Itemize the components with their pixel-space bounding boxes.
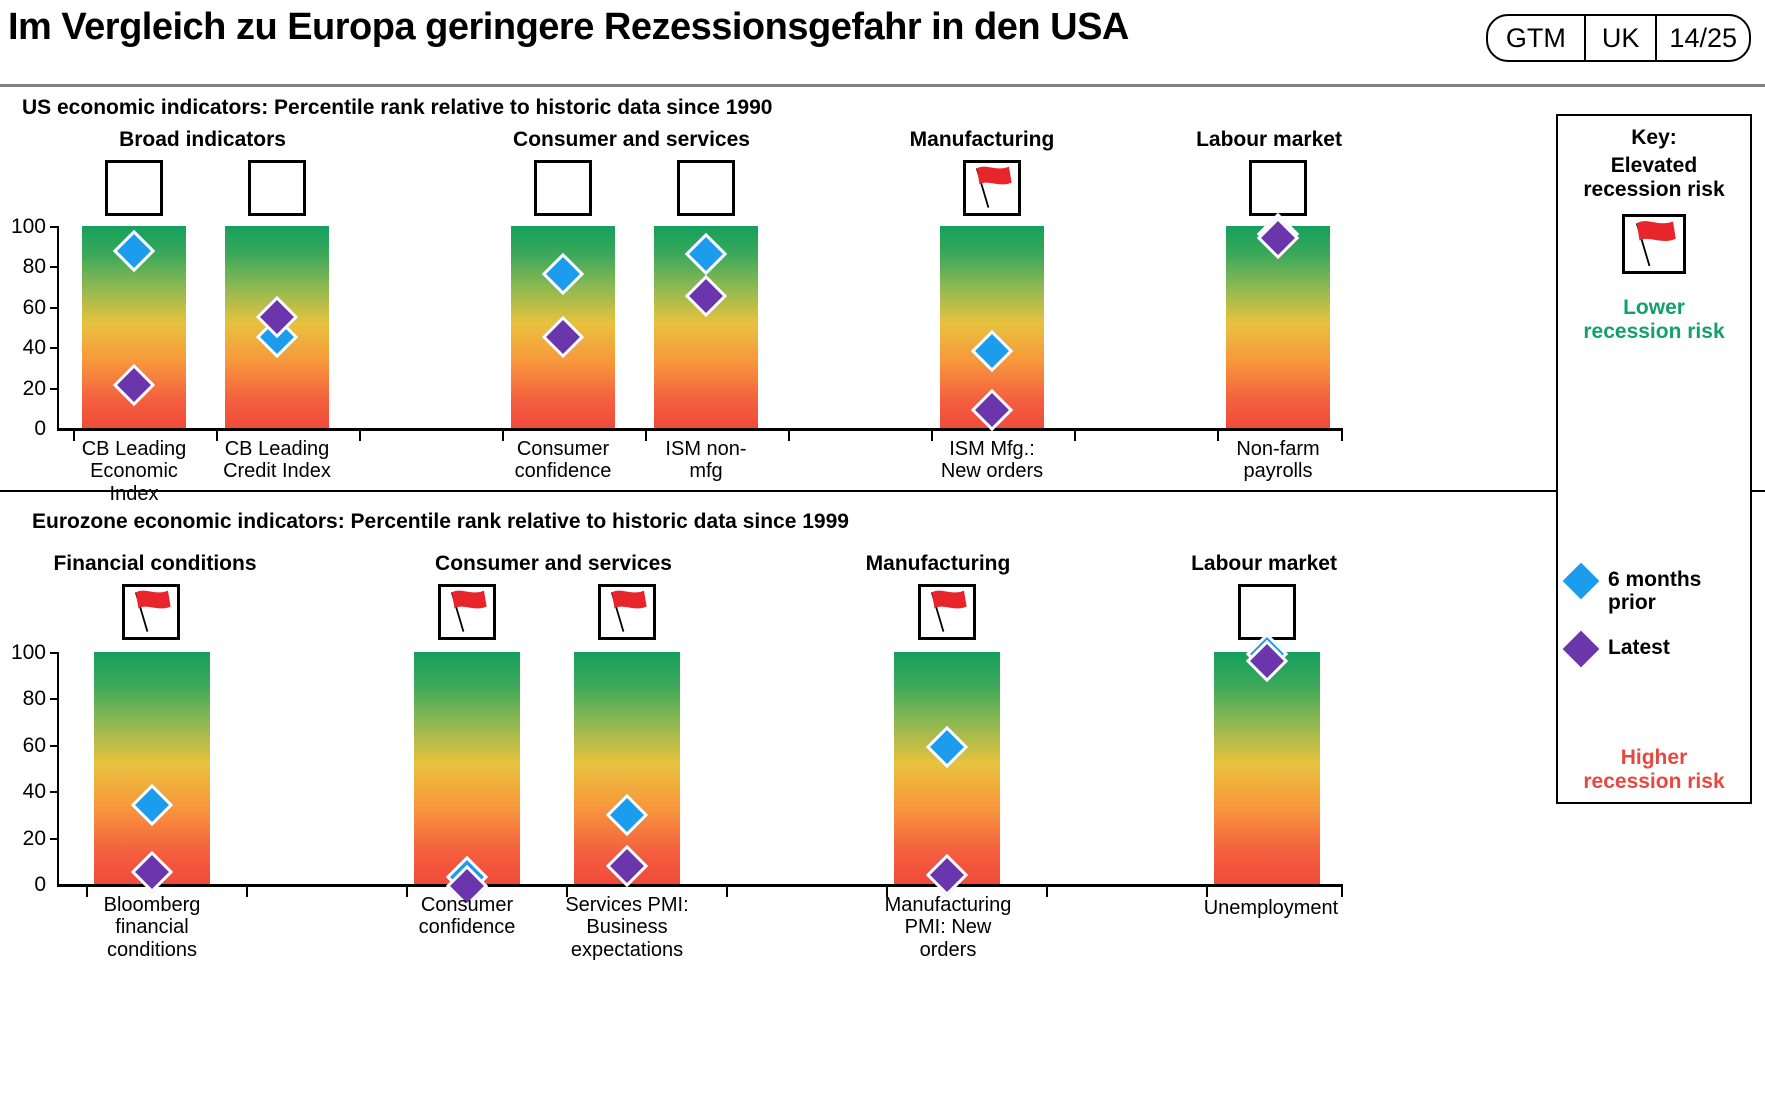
us-xlabel-ism-non-mfg: ISM non- mfg <box>636 438 776 483</box>
eu-xlabel-consumer-confidence: Consumer confidence <box>397 894 537 939</box>
panel-divider <box>0 490 1765 492</box>
eu-bar-bloomberg-financial-conditions <box>94 652 210 884</box>
us-risk-flag-box-cb-leading-credit-index <box>248 160 306 216</box>
eu-ytick-60: 60 <box>0 735 46 756</box>
slide-header: Im Vergleich zu Europa geringere Rezessi… <box>0 0 1765 78</box>
eu-xlabel-services-pmi-business-expectations: Services PMI: Business expectations <box>551 894 703 961</box>
page-title: Im Vergleich zu Europa geringere Rezessi… <box>8 6 1129 49</box>
eu-ytick-20: 20 <box>0 828 46 849</box>
key-higher-risk-label: Higher recession risk <box>1558 746 1750 793</box>
us-xlabel-ism-mfg-new-orders: ISM Mfg.: New orders <box>922 438 1062 483</box>
us-risk-flag-box-consumer-confidence <box>534 160 592 216</box>
eurozone-chart-title: Eurozone economic indicators: Percentile… <box>32 510 849 534</box>
eu-risk-flag-box-manufacturing-pmi-new-orders <box>918 584 976 640</box>
us-ytick-20: 20 <box>0 378 46 399</box>
eu-ytick-80: 80 <box>0 688 46 709</box>
red-flag-icon <box>441 587 493 637</box>
eu-y-axis <box>57 652 59 886</box>
key-flag-box <box>1622 214 1686 274</box>
key-lower-risk-label: Lower recession risk <box>1558 296 1750 343</box>
red-flag-icon <box>1625 217 1683 271</box>
badge-region-label: UK <box>1584 16 1656 60</box>
legend-item-latest: Latest <box>1568 636 1670 662</box>
us-xlabel-consumer-confidence: Consumer confidence <box>493 438 633 483</box>
slide-root: Im Vergleich zu Europa geringere Rezessi… <box>0 0 1765 1095</box>
gtm-badge: GTM UK 14/25 <box>1486 14 1751 62</box>
eu-risk-flag-box-consumer-confidence <box>438 584 496 640</box>
us-ytick-80: 80 <box>0 256 46 277</box>
us-y-axis <box>57 226 59 430</box>
us-ytick-40: 40 <box>0 337 46 358</box>
eu-ytick-0: 0 <box>0 874 46 895</box>
us-group-title-labour: Labour market <box>1150 128 1388 152</box>
eu-ytick-40: 40 <box>0 781 46 802</box>
us-risk-flag-box-ism-non-mfg <box>677 160 735 216</box>
eu-group-title-labour: Labour market <box>1144 552 1384 576</box>
eu-xlabel-unemployment: Unemployment <box>1186 897 1356 919</box>
us-risk-flag-box-cb-leading-economic-index <box>105 160 163 216</box>
legend-label-prior: 6 months prior <box>1608 568 1701 614</box>
us-ytick-60: 60 <box>0 297 46 318</box>
eu-risk-flag-box-unemployment <box>1238 584 1296 640</box>
us-risk-flag-box-ism-mfg-new-orders <box>963 160 1021 216</box>
red-flag-icon <box>921 587 973 637</box>
eu-risk-flag-box-services-pmi-business-expectations <box>598 584 656 640</box>
us-x-axis <box>57 428 1343 431</box>
red-flag-icon <box>125 587 177 637</box>
eu-x-axis <box>57 884 1343 887</box>
eu-group-title-manufacturing: Manufacturing <box>818 552 1058 576</box>
header-divider <box>0 84 1765 87</box>
eu-group-title-consumer: Consumer and services <box>400 552 707 576</box>
eu-group-title-financial: Financial conditions <box>20 552 290 576</box>
us-group-title-consumer: Consumer and services <box>478 128 785 152</box>
red-flag-icon <box>601 587 653 637</box>
us-chart-title: US economic indicators: Percentile rank … <box>22 96 772 120</box>
us-ytick-100: 100 <box>0 216 46 237</box>
eu-ytick-100: 100 <box>0 642 46 663</box>
badge-page-number: 14/25 <box>1655 16 1749 60</box>
key-elevated-risk-label: Elevated recession risk <box>1558 154 1750 201</box>
eu-xlabel-manufacturing-pmi-new-orders: Manufacturing PMI: New orders <box>875 894 1021 961</box>
us-xlabel-cb-leading-credit-index: CB Leading Credit Index <box>207 438 347 483</box>
us-group-title-manufacturing: Manufacturing <box>862 128 1102 152</box>
us-chart-panel: US economic indicators: Percentile rank … <box>0 88 1540 488</box>
badge-gtm-label: GTM <box>1488 16 1584 60</box>
legend-marker-latest-icon <box>1563 631 1600 668</box>
legend-item-6-months-prior: 6 months prior <box>1568 568 1701 614</box>
us-risk-flag-box-non-farm-payrolls <box>1249 160 1307 216</box>
legend-key-panel: Key: Elevated recession risk Lower reces… <box>1556 114 1752 804</box>
us-ytick-0: 0 <box>0 418 46 439</box>
key-title: Key: <box>1558 126 1750 150</box>
eu-bar-unemployment <box>1214 652 1320 884</box>
eu-xlabel-bloomberg-financial-conditions: Bloomberg financial conditions <box>82 894 222 961</box>
us-xlabel-non-farm-payrolls: Non-farm payrolls <box>1208 438 1348 483</box>
us-group-title-broad: Broad indicators <box>50 128 355 152</box>
eurozone-chart-panel: Eurozone economic indicators: Percentile… <box>0 494 1540 1094</box>
red-flag-icon <box>966 163 1018 213</box>
eu-bar-consumer-confidence <box>414 652 520 884</box>
legend-marker-prior-icon <box>1563 563 1600 600</box>
eu-risk-flag-box-bloomberg-financial-conditions <box>122 584 180 640</box>
legend-label-latest: Latest <box>1608 636 1670 659</box>
